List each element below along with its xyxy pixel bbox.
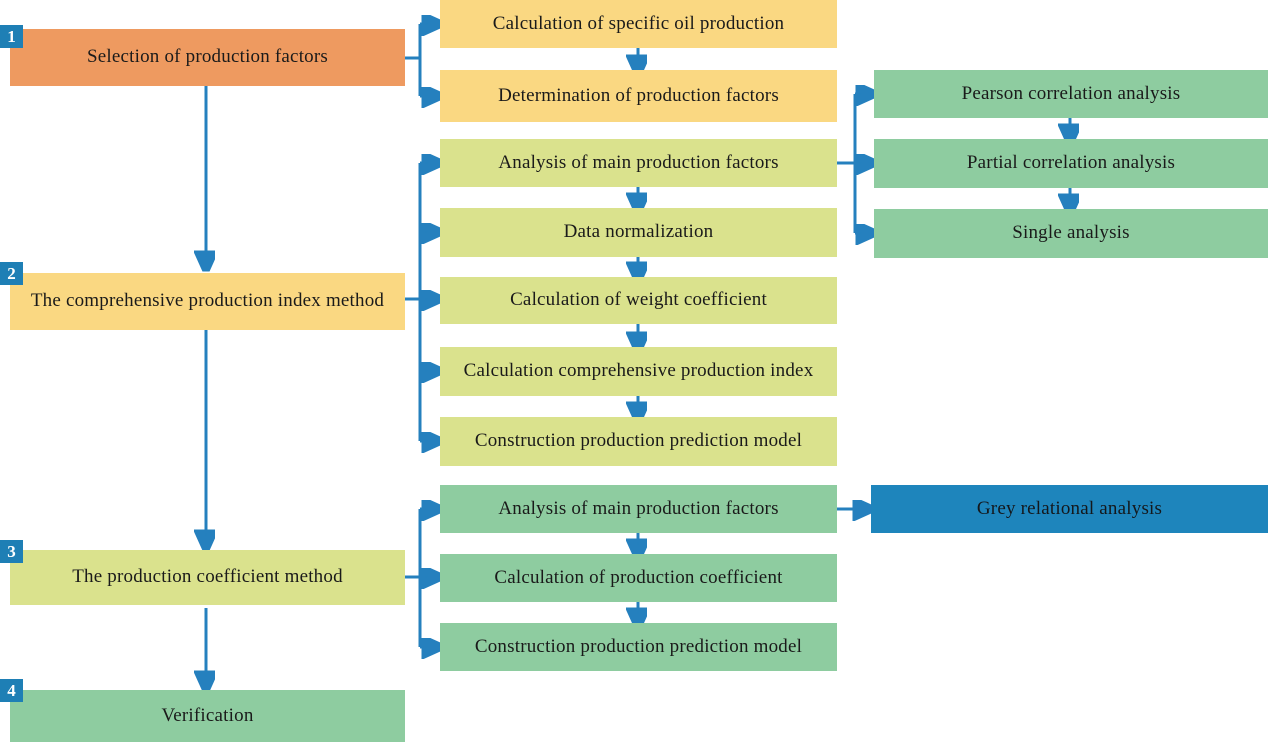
stage3-step-3[interactable]: Construction production prediction model <box>440 623 837 671</box>
stage-2-badge: 2 <box>0 262 23 285</box>
stage2-step-3-label: Calculation of weight coefficient <box>510 290 767 311</box>
stage2-analysis-3[interactable]: Single analysis <box>874 209 1268 258</box>
stage-2-label: The comprehensive production index metho… <box>31 291 384 312</box>
stage2-analysis-2[interactable]: Partial correlation analysis <box>874 139 1268 188</box>
stage2-step-5-label: Construction production prediction model <box>475 431 802 452</box>
stage2-step-5[interactable]: Construction production prediction model <box>440 417 837 466</box>
stage2-step-1[interactable]: Analysis of main production factors <box>440 139 837 187</box>
stage-4-badge: 4 <box>0 679 23 702</box>
stage-1-badge: 1 <box>0 25 23 48</box>
stage2-step-2-label: Data normalization <box>564 222 714 243</box>
stage3-analysis-1-label: Grey relational analysis <box>977 499 1162 520</box>
stage3-step-2[interactable]: Calculation of production coefficient <box>440 554 837 602</box>
stage2-step-4[interactable]: Calculation comprehensive production ind… <box>440 347 837 396</box>
stage3-step-3-label: Construction production prediction model <box>475 637 802 658</box>
stage2-step-4-label: Calculation comprehensive production ind… <box>464 361 814 382</box>
stage2-step-1-label: Analysis of main production factors <box>498 153 778 174</box>
stage-1-box[interactable]: Selection of production factors <box>10 29 405 86</box>
stage-4-label: Verification <box>161 706 253 727</box>
stage3-analysis-1[interactable]: Grey relational analysis <box>871 485 1268 533</box>
flowchart-canvas: Selection of production factors 1 Calcul… <box>0 0 1268 742</box>
stage2-analysis-3-label: Single analysis <box>1012 223 1130 244</box>
stage2-analysis-2-label: Partial correlation analysis <box>967 153 1175 174</box>
stage3-step-1-label: Analysis of main production factors <box>498 499 778 520</box>
stage2-step-2[interactable]: Data normalization <box>440 208 837 257</box>
stage3-step-2-label: Calculation of production coefficient <box>494 568 782 589</box>
stage-2-box[interactable]: The comprehensive production index metho… <box>10 273 405 330</box>
stage1-step-1-label: Calculation of specific oil production <box>493 14 784 35</box>
stage-3-label: The production coefficient method <box>72 567 343 588</box>
stage3-step-1[interactable]: Analysis of main production factors <box>440 485 837 533</box>
stage2-step-3[interactable]: Calculation of weight coefficient <box>440 277 837 324</box>
stage-4-box[interactable]: Verification <box>10 690 405 742</box>
stage-3-badge: 3 <box>0 540 23 563</box>
stage2-analysis-1-label: Pearson correlation analysis <box>962 84 1181 105</box>
stage-3-box[interactable]: The production coefficient method <box>10 550 405 605</box>
stage1-step-2-label: Determination of production factors <box>498 86 779 107</box>
stage2-analysis-1[interactable]: Pearson correlation analysis <box>874 70 1268 118</box>
stage1-step-1[interactable]: Calculation of specific oil production <box>440 0 837 48</box>
stage1-step-2[interactable]: Determination of production factors <box>440 70 837 122</box>
stage-1-label: Selection of production factors <box>87 47 328 68</box>
